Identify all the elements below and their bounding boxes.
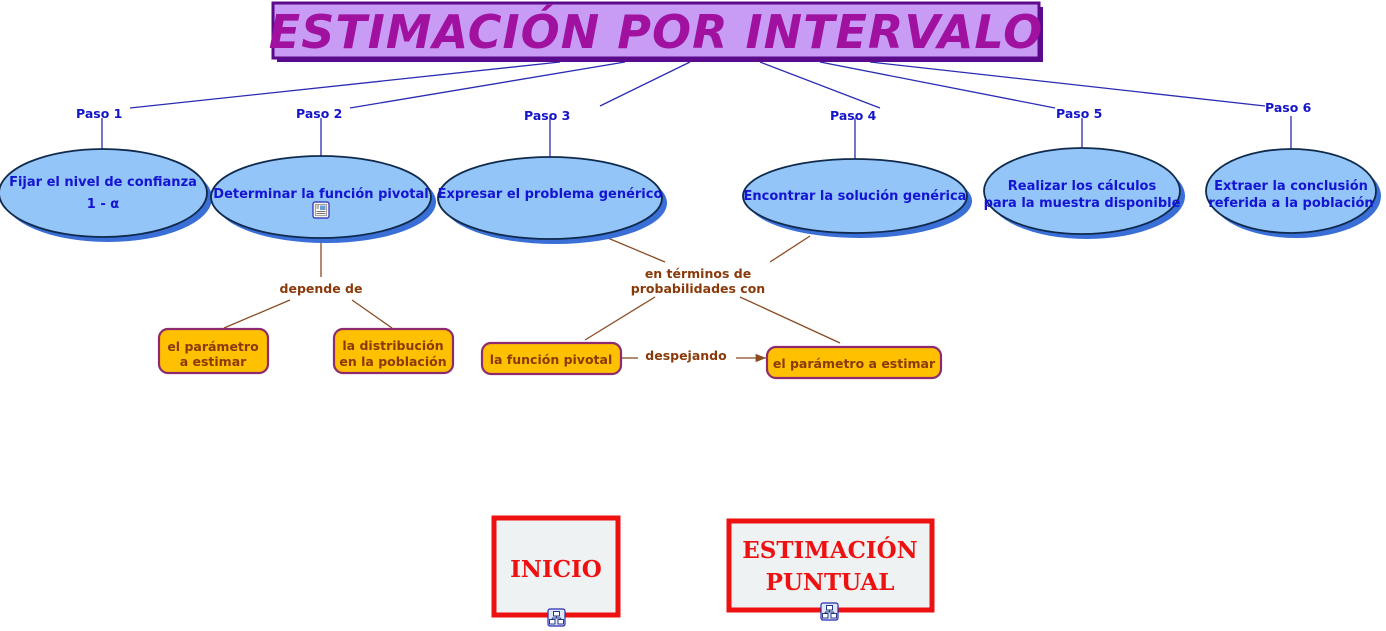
concept-node-paso-2[interactable]: Determinar la función pivotal	[211, 156, 436, 243]
button-label: ESTIMACIÓN	[742, 537, 917, 564]
ellipse-text-line: Realizar los cálculos	[1008, 179, 1157, 194]
step-label-1: Paso 1	[76, 106, 122, 121]
concept-map-link-icon[interactable]	[821, 603, 838, 620]
concept-box-parametro-estimar-1[interactable]: el parámetro a estimar	[159, 329, 268, 373]
button-body	[729, 521, 932, 610]
ellipse-text-line: 1 - α	[87, 197, 119, 212]
concept-box-distribucion-poblacion[interactable]: la distribución en la población	[334, 329, 453, 373]
concept-map-canvas: ESTIMACIÓN POR INTERVALO Paso 1 Paso 2 P…	[0, 0, 1386, 631]
link-label-en-terminos-2: probabilidades con	[631, 281, 765, 296]
link-label-depende-de: depende de	[280, 281, 363, 296]
concept-node-paso-1[interactable]: Fijar el nivel de confianza 1 - α	[0, 149, 212, 242]
ellipse-text-line: para la muestra disponible	[984, 196, 1181, 211]
step-label-3: Paso 3	[524, 108, 570, 123]
button-label: PUNTUAL	[766, 569, 895, 596]
concept-node-paso-4[interactable]: Encontrar la solución genérica	[743, 159, 972, 238]
button-inicio[interactable]: INICIO	[494, 518, 618, 615]
box-text-line: a estimar	[180, 354, 247, 369]
box-text-line: el parámetro a estimar	[773, 356, 936, 371]
ellipse-text-line: Expresar el problema genérico	[438, 187, 663, 202]
step-label-2: Paso 2	[296, 106, 342, 121]
ellipse-body	[0, 149, 207, 237]
box-text-line: la función pivotal	[490, 352, 613, 367]
step-label-6: Paso 6	[1265, 100, 1312, 115]
concept-node-paso-3[interactable]: Expresar el problema genérico	[438, 157, 667, 244]
step-label-5: Paso 5	[1056, 106, 1102, 121]
concept-node-paso-6[interactable]: Extraer la conclusión referida a la pobl…	[1206, 149, 1381, 238]
lower-brown-connectors	[224, 236, 840, 358]
step-label-4: Paso 4	[830, 108, 877, 123]
ellipse-text-line: Determinar la función pivotal	[213, 187, 428, 202]
ellipse-text-line: Fijar el nivel de confianza	[9, 175, 197, 190]
box-text-line: en la población	[339, 354, 446, 369]
button-label: INICIO	[510, 556, 602, 583]
button-estimacion-puntual[interactable]: ESTIMACIÓN PUNTUAL	[729, 521, 932, 610]
link-label-en-terminos-1: en términos de	[645, 266, 751, 281]
map-title[interactable]: ESTIMACIÓN POR INTERVALO	[269, 3, 1043, 62]
concept-box-funcion-pivotal[interactable]: la función pivotal	[482, 343, 621, 374]
link-label-despejando: despejando	[645, 348, 727, 363]
ellipse-text-line: referida a la población	[1208, 196, 1373, 211]
concept-box-parametro-estimar-2[interactable]: el parámetro a estimar	[767, 347, 941, 378]
box-text-line: la distribución	[342, 338, 443, 353]
concept-map-link-icon[interactable]	[548, 609, 565, 626]
box-text-line: el parámetro	[167, 339, 259, 354]
ellipse-text-line: Extraer la conclusión	[1214, 179, 1368, 194]
title-label: ESTIMACIÓN POR INTERVALO	[269, 5, 1043, 59]
ellipse-text-line: Encontrar la solución genérica	[744, 189, 967, 204]
title-to-steps-connectors	[130, 62, 1265, 108]
document-resource-icon[interactable]	[313, 202, 329, 218]
concept-node-paso-5[interactable]: Realizar los cálculos para la muestra di…	[984, 148, 1185, 239]
